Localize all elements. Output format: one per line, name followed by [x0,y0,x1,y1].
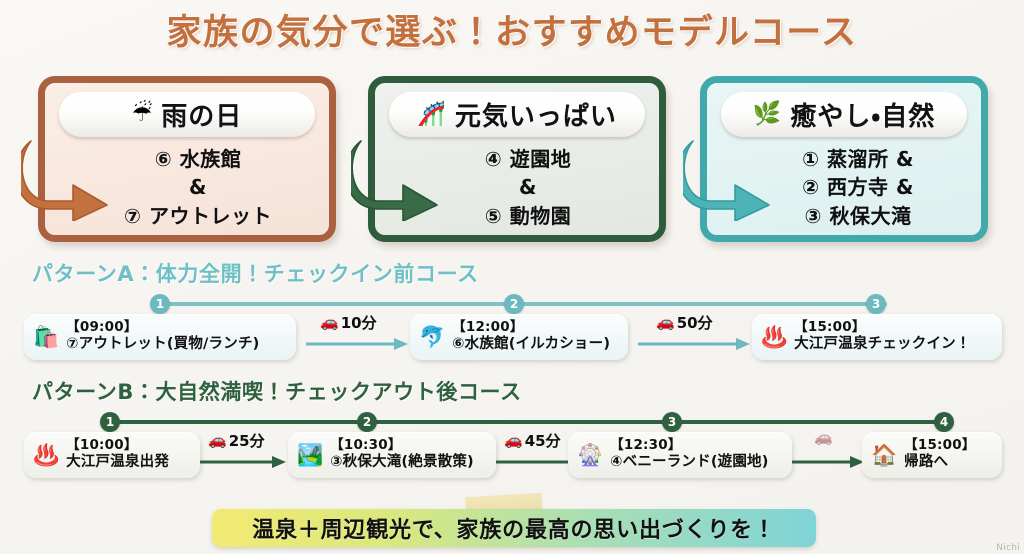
step-time: 【10:00】 [66,438,169,454]
category-item: & [67,173,329,201]
shopping-bag-icon: 🛍️ [33,327,59,348]
car-icon: 🚗 [504,433,523,448]
transit-segment: 🚗 50分 [638,314,750,360]
timeline-node-4[interactable]: 4 [934,412,954,432]
category-label-nature: 癒やし・自然 [790,96,935,133]
transit-segment: 🚗 [792,432,864,478]
pattern-a-title: パターンA：体力全開！チェックイン前コース [32,258,479,288]
category-body-energy: ④ 遊園地 & ⑤ 動物園 [375,145,659,230]
pattern-b-steps: ♨️ 【10:00】 大江戸温泉出発 🚗 25分 🏞️ 【10:30】 ③秋保大… [0,432,1024,482]
category-item: ① 蒸溜所 & [735,145,981,173]
pattern-b-title: パターンB：大自然満喫！チェックアウト後コース [32,376,522,406]
timeline-node-2[interactable]: 2 [504,294,524,314]
step-card[interactable]: ♨️ 【15:00】 大江戸温泉チェックイン！ [752,314,1002,360]
category-item: ④ 遊園地 [397,145,659,173]
umbrella-icon: ☔ [132,103,153,126]
transit-label: 🚗 25分 [208,430,265,451]
step-card[interactable]: 🏞️ 【10:30】 ③秋保大滝(絶景散策) [288,432,496,478]
category-item: & [397,173,659,201]
car-icon: 🚗 [814,430,833,445]
waterfall-icon: 🏞️ [297,445,323,466]
timeline-node-2[interactable]: 2 [357,412,377,432]
watermark: Nichi [996,543,1020,553]
step-time: 【12:30】 [610,438,768,454]
category-body-rainy-day: ⑥ 水族館 & ⑦ アウトレット [45,145,329,230]
category-label-rainy-day: 雨の日 [161,96,242,133]
house-icon: 🏠 [871,445,897,466]
arrow-right-icon [638,338,750,350]
step-time: 【15:00】 [904,438,975,454]
car-icon: 🚗 [656,315,675,330]
transit-label: 🚗 50分 [656,312,713,333]
step-card[interactable]: 🐬 【12:00】 ⑥水族館(イルカショー) [410,314,628,360]
step-name: ④ベニーランド(遊園地) [610,454,768,471]
rail-line [115,420,953,424]
page-title-bar: 家族の気分で選ぶ！おすすめモデルコース [0,4,1024,55]
transit-label: 🚗 45分 [504,430,561,451]
step-name: 帰路へ [904,454,975,471]
step-name: ⑦アウトレット(買物/ランチ) [66,336,259,353]
step-time: 【12:00】 [452,320,610,336]
transit-minutes: 45分 [525,430,561,451]
timeline-node-3[interactable]: 3 [866,294,886,314]
dolphin-icon: 🐬 [419,327,445,348]
closing-banner-text: 温泉＋周辺観光で、家族の最高の思い出づくりを！ [252,512,776,544]
category-card-energy[interactable]: 🎢 元気いっぱい ④ 遊園地 & ⑤ 動物園 [368,76,666,242]
hot-spring-icon: ♨️ [761,327,787,348]
category-card-rainy-day[interactable]: ☔ 雨の日 ⑥ 水族館 & ⑦ アウトレット [38,76,336,242]
timeline-node-3[interactable]: 3 [662,412,682,432]
transit-minutes: 10分 [341,312,377,333]
step-name: 大江戸温泉出発 [66,454,169,471]
pattern-a-steps: 🛍️ 【09:00】 ⑦アウトレット(買物/ランチ) 🚗 10分 🐬 【12:0… [0,314,1024,364]
category-header-energy: 🎢 元気いっぱい [389,92,645,137]
timeline-node-1[interactable]: 1 [150,294,170,314]
category-card-nature[interactable]: 🌿 癒やし・自然 ① 蒸溜所 & ② 西方寺 & ③ 秋保大滝 [700,76,988,242]
step-card[interactable]: 🏠 【15:00】 帰路へ [862,432,1002,478]
transit-segment: 🚗 10分 [306,314,408,360]
step-card[interactable]: 🛍️ 【09:00】 ⑦アウトレット(買物/ランチ) [24,314,296,360]
category-item: ② 西方寺 & [735,173,981,201]
hot-spring-icon: ♨️ [33,445,59,466]
step-card[interactable]: 🎡 【12:30】 ④ベニーランド(遊園地) [568,432,792,478]
transit-minutes: 50分 [677,312,713,333]
category-header-rainy-day: ☔ 雨の日 [59,92,315,137]
pattern-b-progress-rail: 1 2 3 4 [0,412,1024,432]
roller-coaster-icon: 🎢 [417,103,446,126]
category-body-nature: ① 蒸溜所 & ② 西方寺 & ③ 秋保大滝 [707,145,981,230]
transit-label: 🚗 [814,430,835,445]
page-title: 家族の気分で選ぶ！おすすめモデルコース [166,4,857,55]
step-name: 大江戸温泉チェックイン！ [794,336,970,353]
step-time: 【10:30】 [330,438,474,454]
pattern-a-progress-rail: 1 2 3 [0,294,1024,314]
step-name: ③秋保大滝(絶景散策) [330,454,474,471]
timeline-node-1[interactable]: 1 [100,412,120,432]
arrow-right-icon [200,456,286,468]
category-cards-row: ☔ 雨の日 ⑥ 水族館 & ⑦ アウトレット 🎢 元気いっぱい ④ 遊園地 & … [0,76,1024,246]
step-time: 【15:00】 [794,320,970,336]
transit-segment: 🚗 25分 [200,432,286,478]
category-item: ⑥ 水族館 [67,145,329,173]
category-item: ⑦ アウトレット [67,202,329,230]
closing-banner: 温泉＋周辺観光で、家族の最高の思い出づくりを！ [212,509,816,547]
ferris-wheel-icon: 🎡 [577,445,603,466]
step-card[interactable]: ♨️ 【10:00】 大江戸温泉出発 [24,432,200,478]
category-label-energy: 元気いっぱい [455,96,617,133]
transit-minutes: 25分 [229,430,265,451]
step-name: ⑥水族館(イルカショー) [452,336,610,353]
car-icon: 🚗 [208,433,227,448]
category-item: ③ 秋保大滝 [735,202,981,230]
arrow-right-icon [792,456,864,468]
category-item: ⑤ 動物園 [397,202,659,230]
rail-line [165,302,887,306]
arrow-right-icon [306,338,408,350]
car-icon: 🚗 [320,315,339,330]
herb-icon: 🌿 [753,103,782,126]
step-time: 【09:00】 [66,320,259,336]
transit-label: 🚗 10分 [320,312,377,333]
category-header-nature: 🌿 癒やし・自然 [721,92,967,137]
